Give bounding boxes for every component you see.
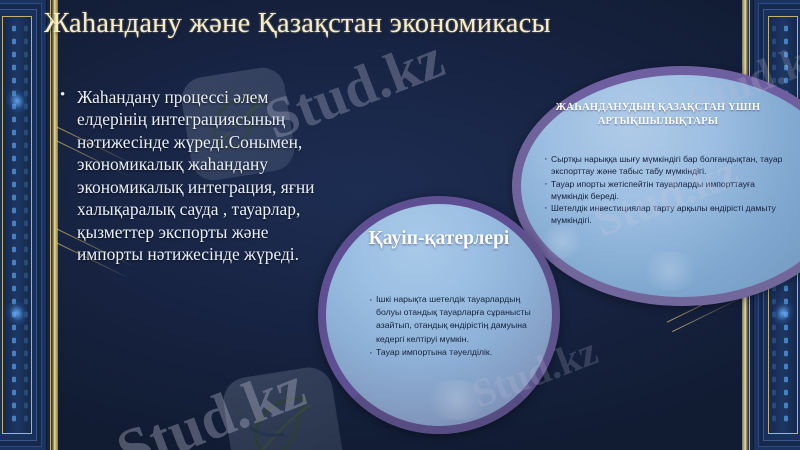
slide-title: Жаһандану және Қазақстан экономикасы — [44, 8, 684, 40]
presentation-slide: Жаһандану және Қазақстан экономикасы • Ж… — [0, 0, 800, 450]
risks-title: Қауіп-қатерлері — [326, 228, 552, 250]
lead-bullet-marker: • — [60, 86, 65, 105]
risks-list: Ішкі нарықта шетелдік тауарлардың болуы … — [368, 293, 540, 359]
slide-border-left — [0, 0, 58, 450]
watermark-text: Stud.kz — [256, 26, 452, 153]
list-item: Ішкі нарықта шетелдік тауарлардың болуы … — [368, 293, 540, 346]
